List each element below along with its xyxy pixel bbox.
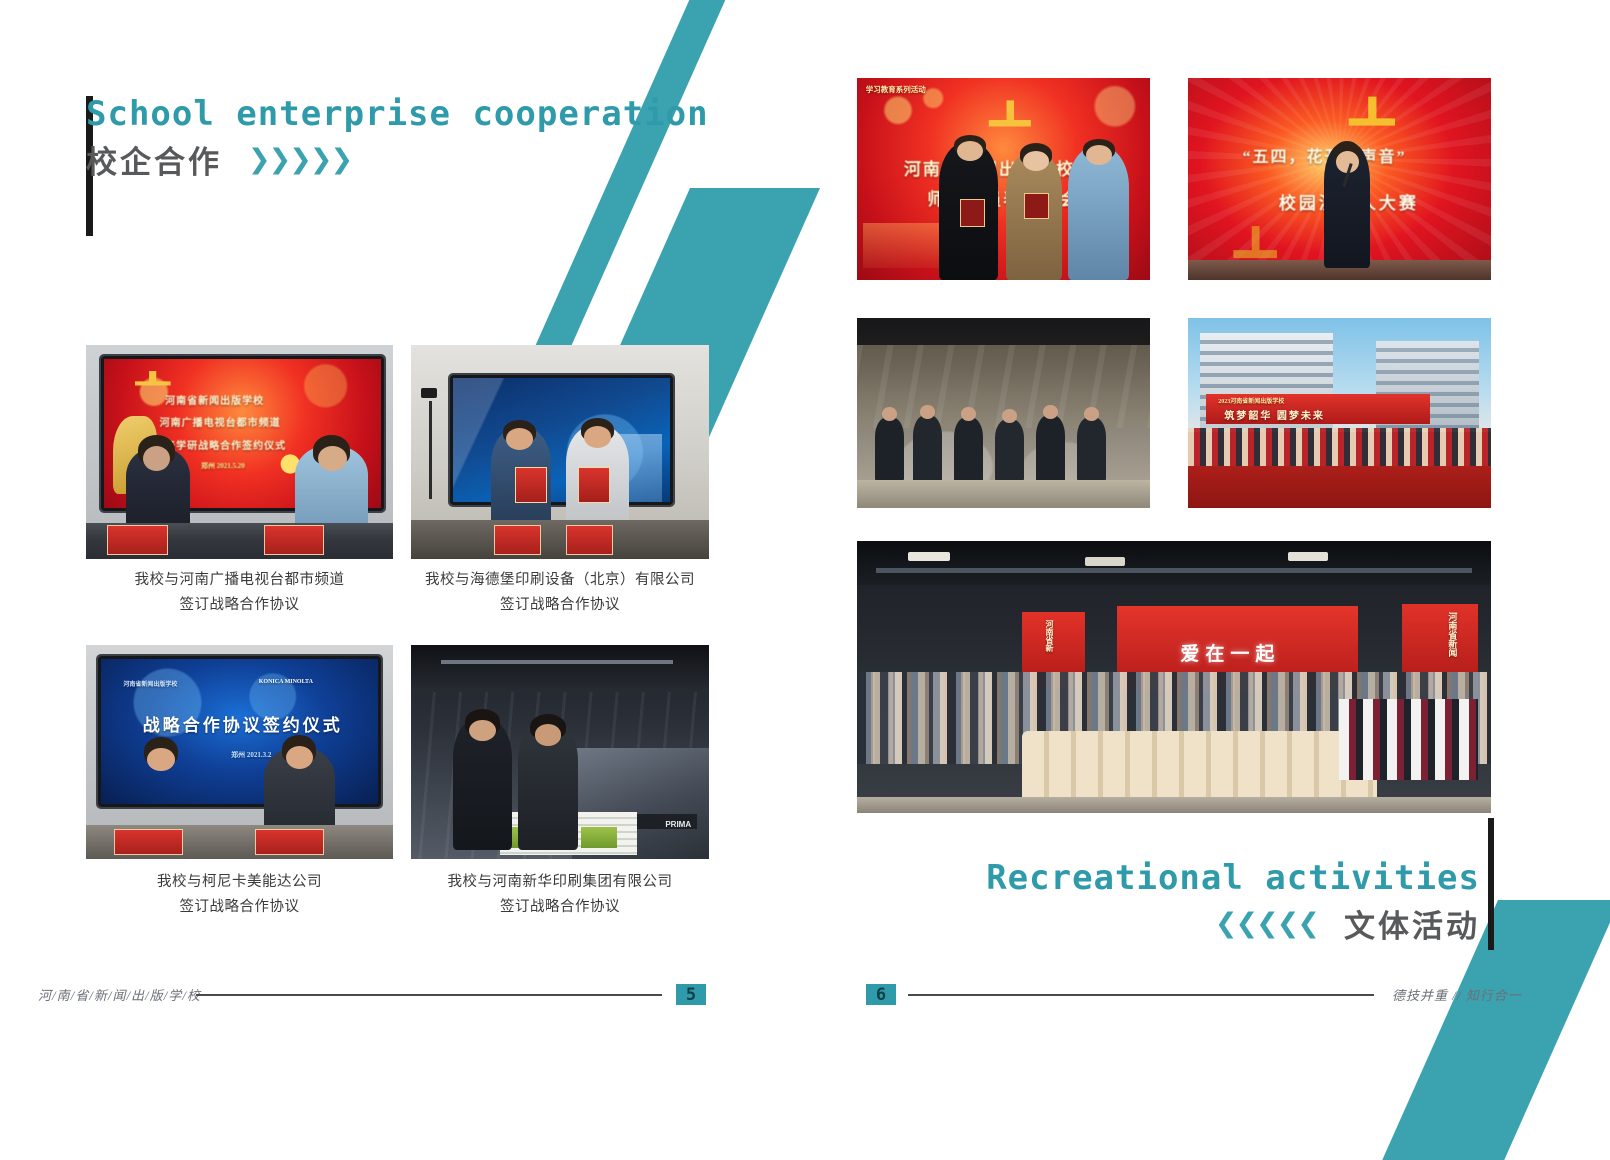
caption-line-1: 我校与海德堡印刷设备（北京）有限公司	[411, 568, 709, 593]
photo-martial-arts-performance	[857, 318, 1150, 508]
caption-photo-signing-henan-tv: 我校与河南广播电视台都市频道 签订战略合作协议	[86, 568, 393, 618]
caption-line-2: 签订战略合作协议	[86, 895, 393, 920]
heading-english-left: School enterprise cooperation	[86, 96, 709, 133]
heading-english-right: Recreational activities	[986, 860, 1480, 897]
page-number-right: 6	[866, 984, 896, 1005]
photo-campus-opening-ceremony: 2023河南省新闻出版学校 筑梦韶华 圆梦未来	[1188, 318, 1491, 508]
photo-group-gala: 河南省新 爱在一起 河南省新闻	[857, 541, 1491, 813]
footer-text-left: 河/南/省/新/闻/出/版/学/校	[38, 985, 201, 1004]
photo-heidelberg	[411, 345, 709, 559]
caption-line-2: 签订战略合作协议	[411, 895, 709, 920]
heading-chinese-right: 文体活动	[1344, 901, 1480, 946]
footer-text-right: 德技并重 // 知行合一	[1392, 985, 1522, 1004]
photo-speech-contest: “五四，花开的声音” 校园演讲人大赛	[1188, 78, 1491, 280]
page-number-left: 5	[676, 984, 706, 1005]
heading-chinese-left: 校企合作	[86, 137, 222, 182]
photo-xinhua-printing: PRIMA	[411, 645, 709, 859]
caption-line-2: 签订战略合作协议	[411, 593, 709, 618]
photo-party-award: 学习教育系列活动 河南省新闻出版学校 师生党员表彰大会	[857, 78, 1150, 280]
photo-konica-minolta: 河南省新闻出版学校 KONICA MINOLTA 战略合作协议签约仪式 郑州 2…	[86, 645, 393, 859]
caption-photo-konica-minolta: 我校与柯尼卡美能达公司 签订战略合作协议	[86, 870, 393, 920]
caption-photo-heidelberg: 我校与海德堡印刷设备（北京）有限公司 签订战略合作协议	[411, 568, 709, 618]
footer-rule-left	[196, 994, 662, 996]
caption-line-1: 我校与河南新华印刷集团有限公司	[411, 870, 709, 895]
brochure-spread: School enterprise cooperation 校企合作 ❯❯❯❯❯…	[0, 0, 1610, 1100]
chevron-left-icon: ❮❮❮❮❮	[1215, 908, 1318, 939]
heading-rule-right	[1488, 818, 1494, 950]
right-page-heading: Recreational activities ❮❮❮❮❮ 文体活动	[986, 860, 1480, 946]
caption-line-2: 签订战略合作协议	[86, 593, 393, 618]
caption-photo-xinhua-printing: 我校与河南新华印刷集团有限公司 签订战略合作协议	[411, 870, 709, 920]
caption-line-1: 我校与柯尼卡美能达公司	[86, 870, 393, 895]
chevron-right-icon: ❯❯❯❯❯	[248, 144, 351, 175]
left-page-heading: School enterprise cooperation 校企合作 ❯❯❯❯❯	[86, 96, 709, 182]
photo-signing-henan-tv: 河南省新闻出版学校 河南广播电视台都市频道 产学研战略合作签约仪式 郑州 202…	[86, 345, 393, 559]
caption-line-1: 我校与河南广播电视台都市频道	[86, 568, 393, 593]
footer-rule-right	[908, 994, 1374, 996]
